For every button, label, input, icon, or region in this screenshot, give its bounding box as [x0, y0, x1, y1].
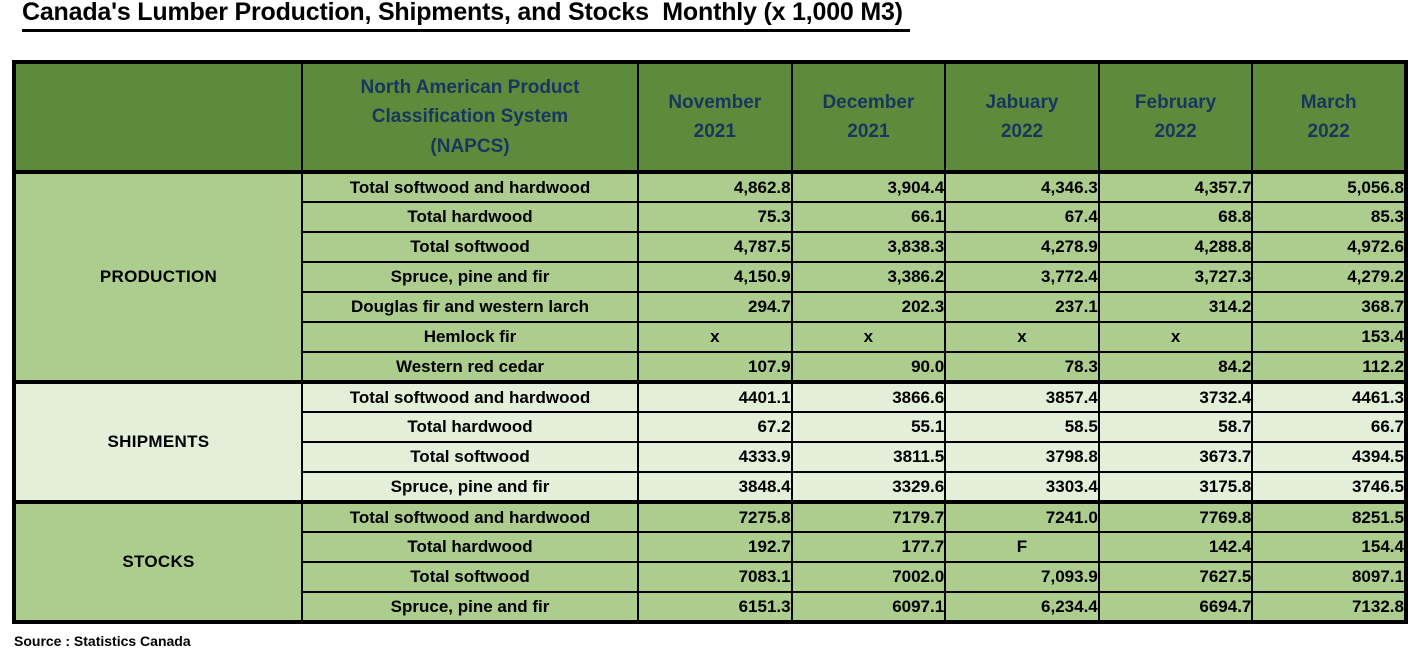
data-cell: 3673.7 [1099, 442, 1253, 472]
row-label: Total hardwood [302, 532, 638, 562]
data-cell: 7627.5 [1099, 562, 1253, 592]
row-label: Douglas fir and western larch [302, 292, 638, 322]
data-cell: 153.4 [1252, 322, 1406, 352]
data-cell: 6097.1 [792, 592, 946, 622]
section-label-stocks: STOCKS [14, 502, 302, 622]
data-cell: 3732.4 [1099, 382, 1253, 412]
section-label-production: PRODUCTION [14, 172, 302, 382]
row-label: Spruce, pine and fir [302, 472, 638, 502]
row-label: Spruce, pine and fir [302, 592, 638, 622]
row-label: Total softwood [302, 232, 638, 262]
table-header: North American Product Classification Sy… [14, 62, 1406, 172]
row-label: Total softwood and hardwood [302, 172, 638, 202]
data-cell: 4,346.3 [945, 172, 1099, 202]
data-cell: 84.2 [1099, 352, 1253, 382]
lumber-statistics-table-container: North American Product Classification Sy… [12, 60, 1404, 624]
data-cell: 4,150.9 [638, 262, 792, 292]
data-cell: 202.3 [792, 292, 946, 322]
data-cell: 177.7 [792, 532, 946, 562]
row-label: Total softwood and hardwood [302, 382, 638, 412]
row-label: Total hardwood [302, 202, 638, 232]
data-cell: 107.9 [638, 352, 792, 382]
data-cell: 3857.4 [945, 382, 1099, 412]
data-cell: 8097.1 [1252, 562, 1406, 592]
row-label: Total hardwood [302, 412, 638, 442]
data-cell: 3175.8 [1099, 472, 1253, 502]
data-cell: 78.3 [945, 352, 1099, 382]
row-label: Total softwood and hardwood [302, 502, 638, 532]
data-cell: 67.4 [945, 202, 1099, 232]
data-cell: 4401.1 [638, 382, 792, 412]
header-napcs-line-2: Classification System [303, 102, 637, 131]
data-cell: 154.4 [1252, 532, 1406, 562]
data-cell: 3303.4 [945, 472, 1099, 502]
header-month-name: December [793, 88, 945, 117]
data-cell: F [945, 532, 1099, 562]
data-cell: 3329.6 [792, 472, 946, 502]
data-cell: 4,279.2 [1252, 262, 1406, 292]
data-cell: 7132.8 [1252, 592, 1406, 622]
row-label: Hemlock fir [302, 322, 638, 352]
data-cell: 7769.8 [1099, 502, 1253, 532]
header-month-name: February [1100, 88, 1252, 117]
header-section-column [14, 62, 302, 172]
data-cell: x [792, 322, 946, 352]
data-cell: 3,904.4 [792, 172, 946, 202]
header-month-year: 2022 [946, 117, 1098, 146]
data-cell: 55.1 [792, 412, 946, 442]
lumber-statistics-table: North American Product Classification Sy… [12, 60, 1408, 624]
data-cell: 5,056.8 [1252, 172, 1406, 202]
data-cell: 7275.8 [638, 502, 792, 532]
data-cell: 8251.5 [1252, 502, 1406, 532]
data-cell: 7083.1 [638, 562, 792, 592]
header-month-name: March [1253, 88, 1404, 117]
header-month-january-2022: Jabuary 2022 [945, 62, 1099, 172]
data-cell: 3,838.3 [792, 232, 946, 262]
data-cell: 3866.6 [792, 382, 946, 412]
header-month-year: 2022 [1253, 117, 1404, 146]
table-header-row: North American Product Classification Sy… [14, 62, 1406, 172]
data-cell: x [1099, 322, 1253, 352]
header-month-november-2021: November 2021 [638, 62, 792, 172]
data-cell: 58.5 [945, 412, 1099, 442]
page-title: Canada's Lumber Production, Shipments, a… [22, 0, 910, 32]
data-cell: 7,093.9 [945, 562, 1099, 592]
data-cell: 6694.7 [1099, 592, 1253, 622]
header-month-year: 2021 [793, 117, 945, 146]
data-cell: 4,787.5 [638, 232, 792, 262]
row-label: Western red cedar [302, 352, 638, 382]
page-root: Canada's Lumber Production, Shipments, a… [0, 0, 1426, 668]
row-label: Total softwood [302, 442, 638, 472]
data-cell: 3,727.3 [1099, 262, 1253, 292]
data-cell: 4333.9 [638, 442, 792, 472]
data-cell: 237.1 [945, 292, 1099, 322]
data-cell: 6,234.4 [945, 592, 1099, 622]
table-row: STOCKSTotal softwood and hardwood7275.87… [14, 502, 1406, 532]
data-cell: 3798.8 [945, 442, 1099, 472]
data-cell: 66.1 [792, 202, 946, 232]
header-month-name: November [639, 88, 791, 117]
data-cell: 294.7 [638, 292, 792, 322]
source-note: Source : Statistics Canada [14, 633, 191, 649]
data-cell: 3811.5 [792, 442, 946, 472]
data-cell: 66.7 [1252, 412, 1406, 442]
data-cell: 68.8 [1099, 202, 1253, 232]
data-cell: 4,357.7 [1099, 172, 1253, 202]
data-cell: 314.2 [1099, 292, 1253, 322]
data-cell: 7179.7 [792, 502, 946, 532]
header-month-march-2022: March 2022 [1252, 62, 1406, 172]
data-cell: 4394.5 [1252, 442, 1406, 472]
data-cell: 3746.5 [1252, 472, 1406, 502]
data-cell: 58.7 [1099, 412, 1253, 442]
data-cell: 75.3 [638, 202, 792, 232]
data-cell: x [638, 322, 792, 352]
data-cell: 142.4 [1099, 532, 1253, 562]
data-cell: 6151.3 [638, 592, 792, 622]
data-cell: 85.3 [1252, 202, 1406, 232]
data-cell: 368.7 [1252, 292, 1406, 322]
section-label-shipments: SHIPMENTS [14, 382, 302, 502]
row-label: Spruce, pine and fir [302, 262, 638, 292]
data-cell: 90.0 [792, 352, 946, 382]
header-napcs-line-1: North American Product [303, 73, 637, 102]
data-cell: 192.7 [638, 532, 792, 562]
header-month-name: Jabuary [946, 88, 1098, 117]
data-cell: 4461.3 [1252, 382, 1406, 412]
table-body: PRODUCTIONTotal softwood and hardwood4,8… [14, 172, 1406, 622]
data-cell: 7241.0 [945, 502, 1099, 532]
data-cell: x [945, 322, 1099, 352]
data-cell: 3,772.4 [945, 262, 1099, 292]
header-month-december-2021: December 2021 [792, 62, 946, 172]
row-label: Total softwood [302, 562, 638, 592]
data-cell: 4,972.6 [1252, 232, 1406, 262]
table-row: PRODUCTIONTotal softwood and hardwood4,8… [14, 172, 1406, 202]
data-cell: 7002.0 [792, 562, 946, 592]
table-row: SHIPMENTSTotal softwood and hardwood4401… [14, 382, 1406, 412]
header-napcs-line-3: (NAPCS) [303, 132, 637, 161]
data-cell: 67.2 [638, 412, 792, 442]
data-cell: 112.2 [1252, 352, 1406, 382]
data-cell: 3,386.2 [792, 262, 946, 292]
header-napcs: North American Product Classification Sy… [302, 62, 638, 172]
header-month-february-2022: February 2022 [1099, 62, 1253, 172]
header-month-year: 2022 [1100, 117, 1252, 146]
data-cell: 4,288.8 [1099, 232, 1253, 262]
data-cell: 4,862.8 [638, 172, 792, 202]
data-cell: 3848.4 [638, 472, 792, 502]
data-cell: 4,278.9 [945, 232, 1099, 262]
header-month-year: 2021 [639, 117, 791, 146]
